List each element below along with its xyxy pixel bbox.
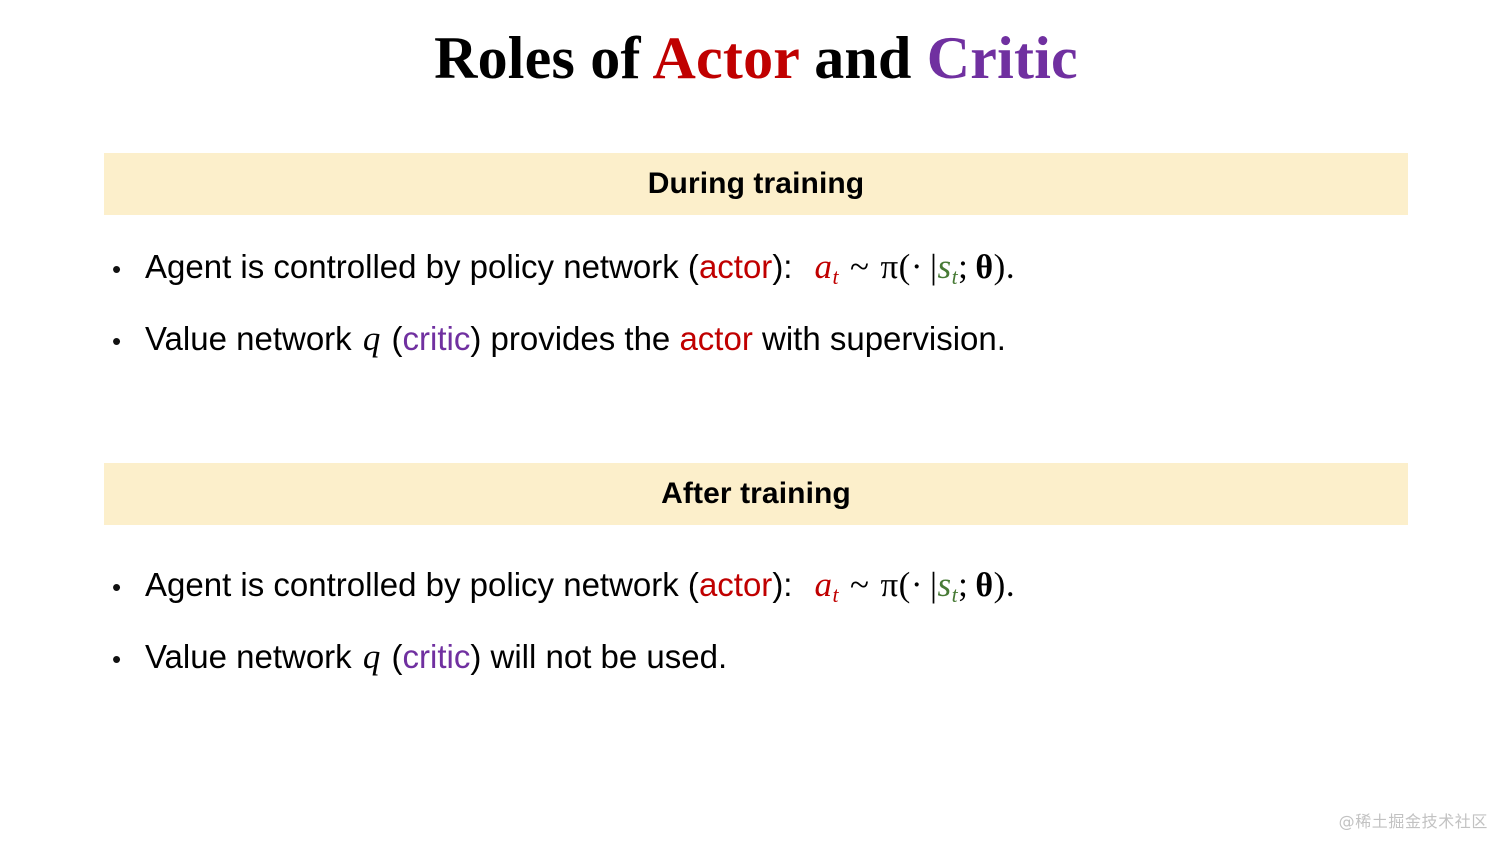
section-banner-label: After training (661, 477, 851, 511)
bullet-open-paren-text: ( (382, 638, 402, 675)
formula-period: . (1006, 565, 1015, 604)
inline-word-critic: critic (403, 638, 471, 675)
formula-period: . (1006, 247, 1015, 286)
bullet-lead-text: Agent is controlled by policy network ( (145, 248, 699, 285)
formula-action-subscript: t (832, 583, 839, 607)
formula-theta-symbol: θ (975, 249, 993, 286)
inline-word-actor: actor (699, 566, 772, 603)
list-item: • Agent is controlled by policy network … (112, 554, 1452, 626)
page-title: Roles of Actor and Critic (0, 24, 1512, 93)
bullet-after-actor-text: ): (772, 248, 792, 285)
formula-state-symbol: s (937, 247, 951, 286)
formula-close-paren: ) (994, 247, 1006, 286)
bullet-mid-text: ) will not be used. (470, 638, 727, 675)
bullet-after-actor-text: ): (772, 566, 792, 603)
list-item: • Agent is controlled by policy network … (112, 236, 1452, 308)
formula-tilde-icon: ~ (850, 565, 869, 604)
bullet-list-after-training: • Agent is controlled by policy network … (112, 554, 1452, 690)
bullet-lead-text: Agent is controlled by policy network ( (145, 566, 699, 603)
watermark: @稀土掘金技术社区 (1339, 808, 1488, 832)
bullet-marker-icon: • (112, 310, 145, 372)
bullet-tail-text: with supervision. (753, 320, 1006, 357)
bullet-lead-text: Value network (145, 320, 361, 357)
formula-pi-symbol: π (880, 565, 898, 604)
bullet-marker-icon: • (112, 556, 145, 618)
section-banner-label: During training (648, 167, 864, 201)
formula-action-symbol: a (814, 247, 832, 286)
title-part-roles-of: Roles of (434, 25, 652, 91)
formula-action-distribution: at~π(·|st;θ). (814, 248, 1015, 285)
formula-state-symbol: s (937, 565, 951, 604)
section-banner-during-training: During training (104, 153, 1408, 215)
list-item: • Value network q (critic) provides the … (112, 308, 1452, 372)
bullet-mid-text: ) provides the (470, 320, 679, 357)
bullet-text: Agent is controlled by policy network (a… (145, 236, 1015, 308)
bullet-marker-icon: • (112, 238, 145, 300)
title-part-and: and (799, 25, 927, 91)
bullet-text: Agent is controlled by policy network (a… (145, 554, 1015, 626)
formula-cdot-icon: · (911, 565, 923, 604)
formula-pi-symbol: π (880, 247, 898, 286)
inline-symbol-q: q (361, 319, 383, 358)
formula-action-subscript: t (832, 265, 839, 289)
formula-close-paren: ) (994, 565, 1006, 604)
bullet-lead-text: Value network (145, 638, 361, 675)
title-word-critic: Critic (927, 25, 1078, 91)
formula-theta-symbol: θ (975, 567, 993, 604)
formula-action-distribution: at~π(·|st;θ). (814, 566, 1015, 603)
formula-tilde-icon: ~ (850, 247, 869, 286)
section-banner-after-training: After training (104, 463, 1408, 525)
formula-semicolon: ; (958, 247, 968, 286)
inline-symbol-q: q (361, 637, 383, 676)
formula-open-paren: ( (899, 565, 911, 604)
formula-cdot-icon: · (911, 247, 923, 286)
bullet-list-during-training: • Agent is controlled by policy network … (112, 236, 1452, 372)
bullet-text: Value network q (critic) provides the ac… (145, 308, 1006, 370)
inline-word-actor: actor (679, 320, 752, 357)
bullet-marker-icon: • (112, 628, 145, 690)
inline-word-actor: actor (699, 248, 772, 285)
formula-open-paren: ( (899, 247, 911, 286)
formula-semicolon: ; (958, 565, 968, 604)
formula-action-symbol: a (814, 565, 832, 604)
inline-word-critic: critic (403, 320, 471, 357)
list-item: • Value network q (critic) will not be u… (112, 626, 1452, 690)
bullet-text: Value network q (critic) will not be use… (145, 626, 727, 688)
bullet-open-paren-text: ( (382, 320, 402, 357)
title-word-actor: Actor (653, 25, 800, 91)
